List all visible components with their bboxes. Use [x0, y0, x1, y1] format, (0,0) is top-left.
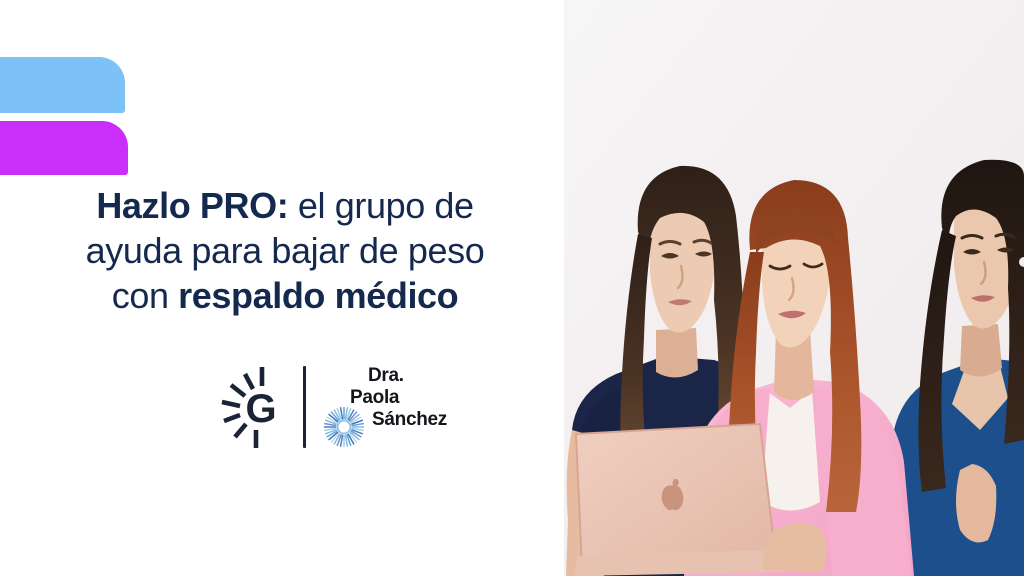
hero-photo-illustration: [564, 0, 1024, 576]
doctor-line-2: Paola: [346, 387, 464, 409]
doctor-logo: Dra. Paola Sánchez: [324, 365, 464, 449]
magenta-rounded-bar: [0, 121, 128, 175]
doctor-line-3: Sánchez: [346, 409, 464, 431]
left-content-panel: Hazlo PRO: el grupo de ayuda para bajar …: [0, 0, 564, 576]
g-sunburst-logo-icon: G: [213, 364, 289, 450]
doctor-name: Dra. Paola Sánchez: [346, 365, 464, 431]
headline-line1-bold: Hazlo PRO:: [96, 185, 288, 226]
hero-photo: [564, 0, 1024, 576]
g-letter: G: [245, 387, 276, 431]
blue-rounded-bar: [0, 57, 125, 113]
promo-banner: Hazlo PRO: el grupo de ayuda para bajar …: [0, 0, 1024, 576]
headline: Hazlo PRO: el grupo de ayuda para bajar …: [30, 183, 540, 318]
logo-divider: [303, 366, 306, 448]
logo-lockup: G Dra. Paola Sánchez: [213, 362, 483, 452]
laptop: [574, 424, 784, 576]
headline-line2: ayuda para bajar de peso: [86, 230, 485, 271]
doctor-line-1: Dra.: [346, 365, 464, 387]
headline-line3-light: con: [112, 275, 178, 316]
headline-line3-bold: respaldo médico: [178, 275, 458, 316]
headline-line1-rest: el grupo de: [288, 185, 473, 226]
